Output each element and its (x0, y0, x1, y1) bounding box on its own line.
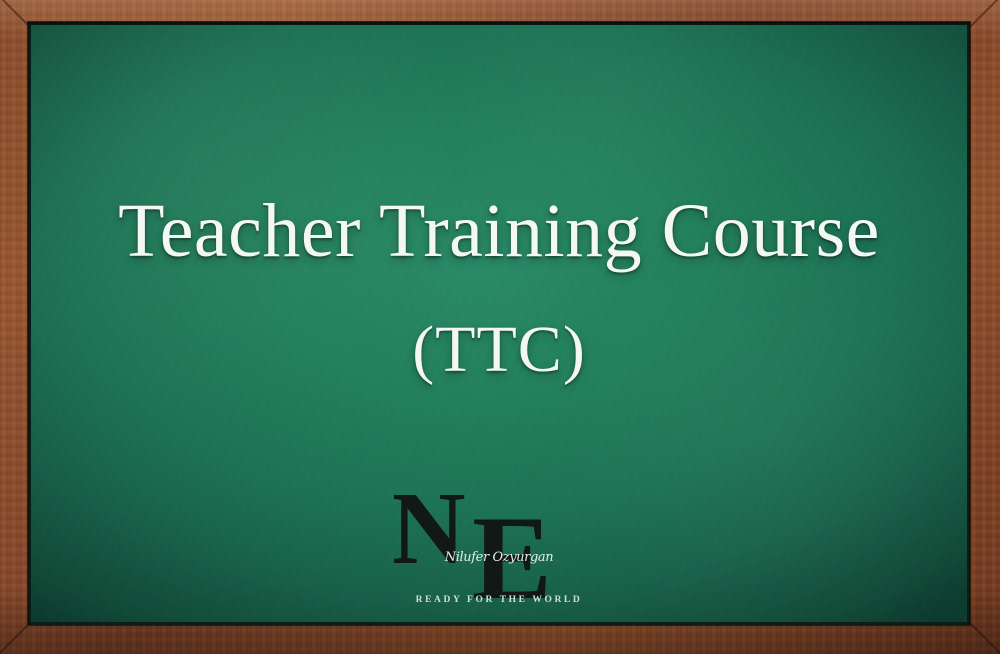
page-title: Teacher Training Course (118, 193, 880, 269)
logo-monogram-n: N (394, 477, 466, 586)
chalkboard-surface: Teacher Training Course (TTC) N E Nilufe… (31, 25, 967, 622)
chalkboard-wooden-frame: Teacher Training Course (TTC) N E Nilufe… (0, 0, 1000, 654)
logo-script-signature: Nilufer Ozyurgan (444, 550, 553, 565)
logo-tagline: READY FOR THE WORLD (416, 595, 583, 605)
brand-logo: N E Nilufer Ozyurgan READY FOR THE WORLD (394, 477, 604, 611)
chalkboard-bevel: Teacher Training Course (TTC) N E Nilufe… (28, 22, 970, 625)
course-abbreviation: (TTC) (412, 317, 586, 383)
